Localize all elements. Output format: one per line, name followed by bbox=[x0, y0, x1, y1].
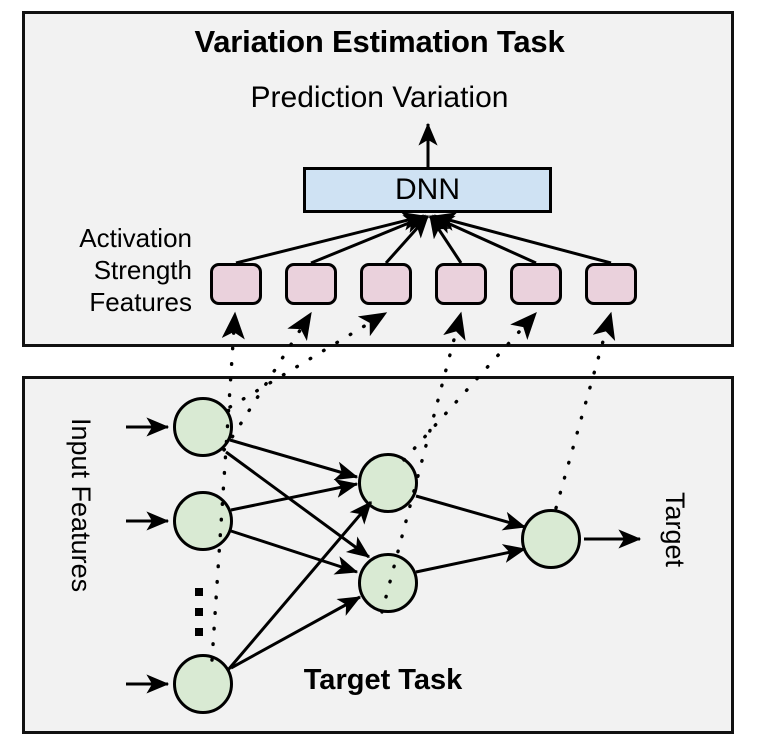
activation-label-line-1: Activation bbox=[20, 222, 192, 254]
activation-feature-box-4 bbox=[435, 263, 487, 305]
activation-feature-box-6 bbox=[585, 263, 637, 305]
hidden-node-1 bbox=[358, 453, 418, 513]
vertical-ellipsis-dot-1 bbox=[195, 588, 203, 596]
activation-label-line-2: Strength bbox=[20, 254, 192, 286]
input-node-3 bbox=[173, 654, 233, 714]
variation-estimation-title: Variation Estimation Task bbox=[0, 24, 759, 60]
target-label: Target bbox=[659, 492, 690, 567]
prediction-variation-label: Prediction Variation bbox=[0, 81, 759, 115]
hidden-node-2 bbox=[358, 553, 418, 613]
input-node-2 bbox=[173, 491, 233, 551]
activation-feature-box-3 bbox=[360, 263, 412, 305]
figure-root: Variation Estimation Task Prediction Var… bbox=[0, 0, 759, 755]
input-features-label: Input Features bbox=[65, 418, 96, 592]
activation-feature-box-2 bbox=[285, 263, 337, 305]
activation-feature-box-5 bbox=[510, 263, 562, 305]
input-node-1 bbox=[173, 397, 233, 457]
vertical-ellipsis-dot-2 bbox=[195, 608, 203, 616]
vertical-ellipsis-dot-3 bbox=[195, 628, 203, 636]
output-node-1 bbox=[521, 509, 581, 569]
activation-feature-box-1 bbox=[210, 263, 262, 305]
activation-label-line-3: Features bbox=[20, 286, 192, 318]
dnn-box: DNN bbox=[303, 167, 552, 213]
activation-strength-features-label: Activation Strength Features bbox=[20, 222, 192, 318]
target-task-title: Target Task bbox=[238, 664, 528, 697]
